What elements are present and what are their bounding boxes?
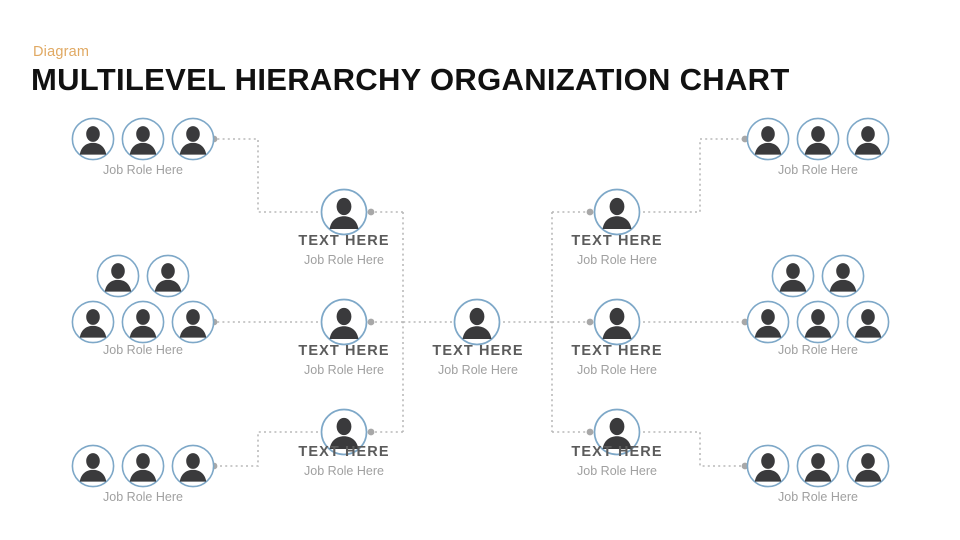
person-avatar-icon — [845, 443, 891, 489]
person-avatar-icon — [592, 187, 642, 237]
cluster-avatar[interactable] — [795, 443, 841, 489]
person-avatar-icon — [745, 443, 791, 489]
person-avatar-icon — [120, 116, 166, 162]
person-avatar-icon — [770, 253, 816, 299]
person-avatar-icon — [70, 443, 116, 489]
cluster-avatar[interactable] — [120, 443, 166, 489]
avatar-node-center[interactable] — [452, 297, 502, 347]
person-avatar-icon — [592, 297, 642, 347]
cluster-role-label: Job Role Here — [43, 343, 243, 357]
node-title: TEXT HERE — [259, 445, 429, 461]
person-avatar-icon — [745, 299, 791, 345]
person-avatar-icon — [319, 297, 369, 347]
cluster-avatar[interactable] — [745, 443, 791, 489]
person-avatar-icon — [845, 299, 891, 345]
cluster-avatar[interactable] — [170, 116, 216, 162]
cluster-avatar[interactable] — [820, 253, 866, 299]
person-avatar-icon — [745, 116, 791, 162]
node-role: Job Role Here — [532, 363, 702, 379]
person-avatar-icon — [145, 253, 191, 299]
person-avatar-icon — [70, 116, 116, 162]
node-title: TEXT HERE — [532, 234, 702, 250]
cluster-role-label: Job Role Here — [43, 163, 243, 177]
node-title: TEXT HERE — [532, 344, 702, 360]
cluster-avatar[interactable] — [770, 253, 816, 299]
node-left-middle[interactable]: TEXT HERE Job Role Here — [259, 344, 429, 379]
node-title: TEXT HERE — [259, 234, 429, 250]
avatar-node-left-top[interactable] — [319, 187, 369, 237]
cluster-avatar[interactable] — [120, 116, 166, 162]
cluster-avatar[interactable] — [745, 299, 791, 345]
person-avatar-icon — [795, 116, 841, 162]
node-role: Job Role Here — [532, 253, 702, 269]
cluster-avatar[interactable] — [70, 443, 116, 489]
person-avatar-icon — [70, 299, 116, 345]
node-right-top[interactable]: TEXT HERE Job Role Here — [532, 234, 702, 269]
cluster-role-label: Job Role Here — [718, 343, 918, 357]
person-avatar-icon — [170, 443, 216, 489]
cluster-avatar[interactable] — [845, 116, 891, 162]
person-avatar-icon — [170, 299, 216, 345]
person-avatar-icon — [820, 253, 866, 299]
person-avatar-icon — [795, 443, 841, 489]
person-avatar-icon — [319, 187, 369, 237]
person-avatar-icon — [120, 299, 166, 345]
node-left-bottom[interactable]: TEXT HERE Job Role Here — [259, 445, 429, 480]
cluster-avatar[interactable] — [170, 299, 216, 345]
avatar-node-left-middle[interactable] — [319, 297, 369, 347]
cluster-avatar[interactable] — [95, 253, 141, 299]
cluster-avatar[interactable] — [120, 299, 166, 345]
cluster-avatar[interactable] — [170, 443, 216, 489]
avatar-node-right-top[interactable] — [592, 187, 642, 237]
person-avatar-icon — [170, 116, 216, 162]
person-avatar-icon — [452, 297, 502, 347]
person-avatar-icon — [795, 299, 841, 345]
cluster-role-label: Job Role Here — [718, 490, 918, 504]
slide-canvas: Diagram MULTILEVEL HIERARCHY ORGANIZATIO… — [0, 0, 960, 540]
cluster-avatar[interactable] — [845, 443, 891, 489]
node-left-top[interactable]: TEXT HERE Job Role Here — [259, 234, 429, 269]
cluster-avatar[interactable] — [70, 299, 116, 345]
node-right-bottom[interactable]: TEXT HERE Job Role Here — [532, 445, 702, 480]
page-title: MULTILEVEL HIERARCHY ORGANIZATION CHART — [31, 62, 790, 98]
cluster-avatar[interactable] — [70, 116, 116, 162]
node-role: Job Role Here — [259, 363, 429, 379]
node-role: Job Role Here — [259, 464, 429, 480]
cluster-avatar[interactable] — [745, 116, 791, 162]
cluster-avatar[interactable] — [795, 299, 841, 345]
avatar-node-right-middle[interactable] — [592, 297, 642, 347]
cluster-avatar[interactable] — [795, 116, 841, 162]
cluster-avatar[interactable] — [845, 299, 891, 345]
person-avatar-icon — [120, 443, 166, 489]
person-avatar-icon — [95, 253, 141, 299]
cluster-role-label: Job Role Here — [43, 490, 243, 504]
node-role: Job Role Here — [259, 253, 429, 269]
cluster-role-label: Job Role Here — [718, 163, 918, 177]
node-role: Job Role Here — [532, 464, 702, 480]
node-title: TEXT HERE — [532, 445, 702, 461]
person-avatar-icon — [845, 116, 891, 162]
eyebrow-label: Diagram — [33, 44, 89, 60]
cluster-avatar[interactable] — [145, 253, 191, 299]
node-right-middle[interactable]: TEXT HERE Job Role Here — [532, 344, 702, 379]
node-title: TEXT HERE — [259, 344, 429, 360]
